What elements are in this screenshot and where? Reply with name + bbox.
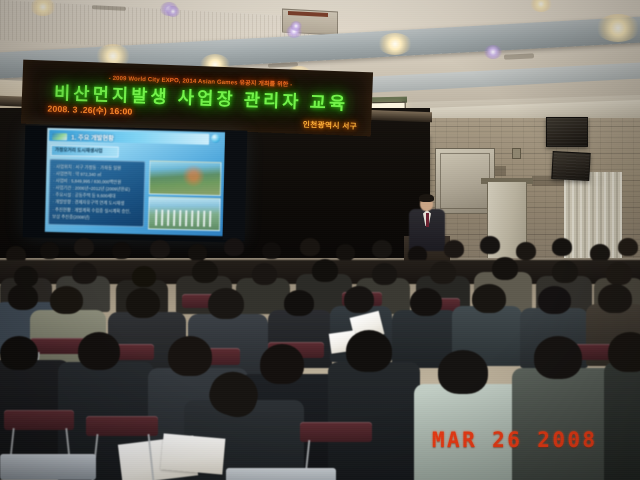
- audience-head: [224, 238, 244, 256]
- audience-head: [132, 266, 156, 287]
- presenter-tie: [426, 213, 429, 227]
- audience-head: [300, 238, 320, 256]
- audience-head: [74, 238, 94, 256]
- slide-header-text: 1. 주요 개발현황: [71, 133, 114, 143]
- audience-head: [252, 263, 277, 285]
- camera-date-stamp: MAR 26 2008: [432, 428, 597, 452]
- audience-head: [8, 284, 38, 310]
- audience-head: [188, 244, 207, 261]
- loudspeaker-right-lower: [551, 151, 590, 181]
- photograph-seminar-hall: 비상시 사용금지 - 2009 World City EXPO, 2014 As…: [0, 0, 640, 480]
- audience-head: [430, 261, 456, 284]
- audience-head: [284, 290, 314, 316]
- audience-head: [260, 344, 304, 384]
- presenter-hair: [419, 194, 434, 202]
- audience-head: [168, 336, 212, 376]
- audience-head: [372, 240, 392, 258]
- slide-header-bar: 1. 주요 개발현황: [49, 130, 209, 145]
- audience-head: [150, 240, 170, 258]
- audience-torso: [604, 362, 640, 480]
- chair-back-foreground: [226, 468, 336, 480]
- chair-back: [300, 422, 372, 442]
- audience-head: [480, 236, 500, 254]
- slide-bullet-list: · 사업위치 : 서구 가정동 · 가좌동 일원 · 사업면적 : 약 972,…: [48, 159, 146, 227]
- audience-head: [472, 284, 506, 313]
- slide-image-aerial: [149, 160, 222, 196]
- slide-subheading-text: 가정오거리 도시재생사업: [55, 147, 103, 154]
- audience-head: [262, 242, 281, 259]
- wall-fixture-small: [512, 148, 521, 159]
- downlight-8: [530, 0, 552, 12]
- audience-head: [538, 286, 571, 314]
- slide-badge-icon: [211, 134, 220, 143]
- speaker-grill-texture: [547, 118, 587, 146]
- audience-head: [492, 257, 518, 280]
- speaker-grill-texture-2: [552, 152, 589, 180]
- audience-head: [598, 284, 632, 313]
- audience-head: [208, 288, 244, 319]
- audience-torso: [328, 362, 420, 480]
- audience-head: [552, 238, 572, 256]
- loudspeaker-right-upper: [546, 117, 588, 147]
- audience-head: [552, 260, 578, 283]
- audience-head: [50, 286, 83, 314]
- audience-head: [312, 259, 338, 282]
- audience-head: [336, 244, 355, 261]
- presentation-slide: 1. 주요 개발현황 가정오거리 도시재생사업 · 사업위치 : 서구 가정동 …: [45, 128, 225, 236]
- ceiling-vent-5: [504, 53, 534, 60]
- audience-head: [112, 242, 131, 259]
- audience-head: [516, 242, 536, 260]
- slide-image-rendering: [148, 196, 221, 231]
- audience-head: [606, 262, 632, 285]
- slide-logo-icon: [52, 132, 67, 139]
- audience-head: [78, 332, 120, 370]
- audience-head: [346, 330, 392, 372]
- banner-organizer: 인천광역시 서구: [303, 119, 358, 132]
- audience-head: [40, 242, 59, 259]
- projection-screen: 1. 주요 개발현황 가정오거리 도시재생사업 · 사업위치 : 서구 가정동 …: [23, 125, 246, 242]
- audience-head: [410, 288, 442, 316]
- chair-back: [86, 416, 158, 436]
- audience-head: [608, 332, 640, 372]
- audience-head: [618, 238, 638, 256]
- audience-head: [192, 260, 218, 283]
- led-banner: - 2009 World City EXPO, 2014 Asian Games…: [21, 60, 373, 137]
- audience-head: [444, 240, 464, 258]
- banner-date: 2008. 3 .26(수) 16:00: [47, 103, 132, 118]
- audience-head: [438, 350, 488, 394]
- audience-torso: [512, 368, 616, 480]
- audience-head: [534, 336, 582, 379]
- audience-head: [126, 288, 160, 318]
- handout-paper-open: [161, 433, 226, 474]
- chair-back-foreground: [0, 454, 96, 480]
- audience-head: [0, 336, 38, 370]
- chair-back: [4, 410, 74, 430]
- audience-head: [72, 262, 97, 284]
- audience-head: [344, 286, 374, 313]
- screen-unlit-area: [223, 130, 248, 241]
- slide-subheading-box: 가정오거리 도시재생사업: [51, 145, 119, 158]
- audience-head: [372, 263, 397, 285]
